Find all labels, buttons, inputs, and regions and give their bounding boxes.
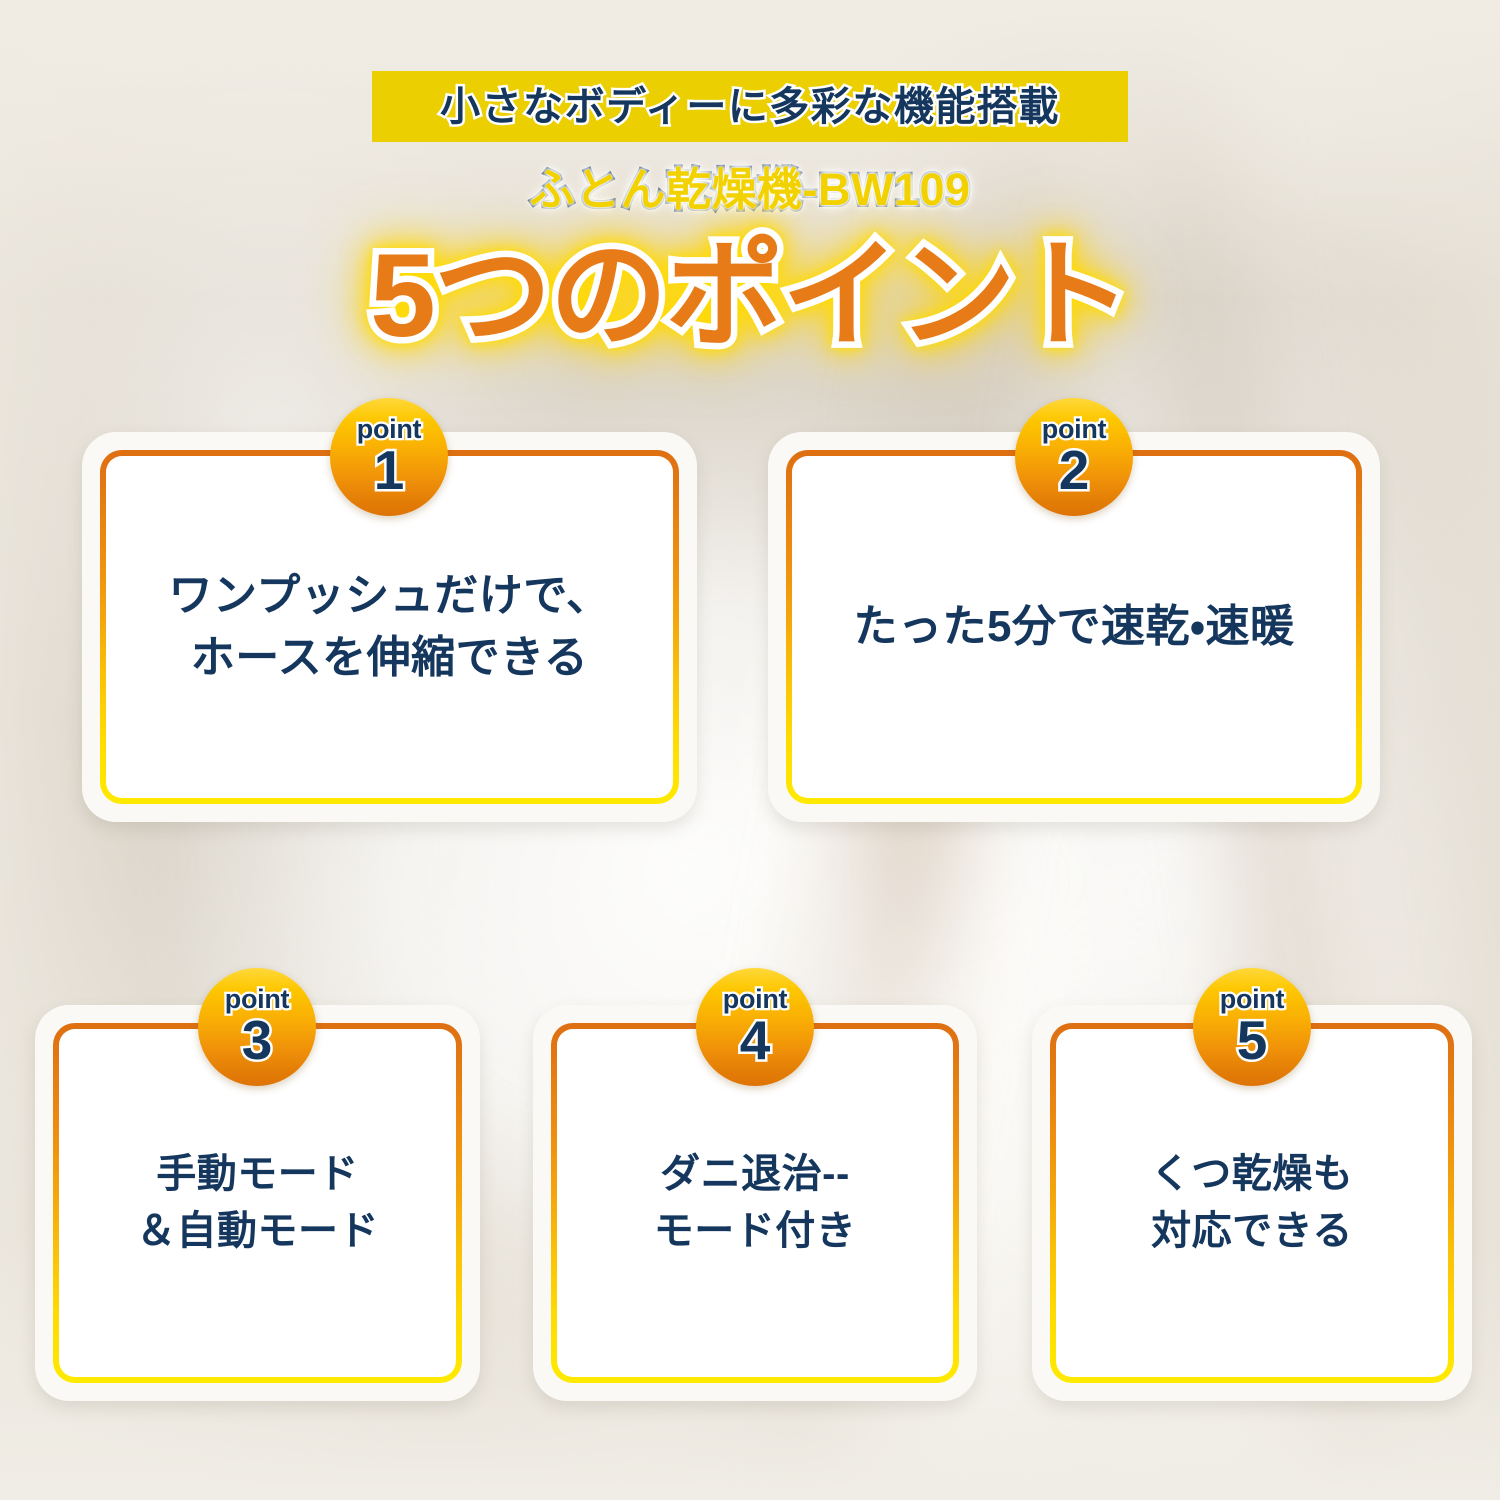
point-badge-2-number: 2 xyxy=(1059,443,1090,498)
point-badge-4: point 4 xyxy=(696,968,814,1086)
tagline-text: 小さなボディーに多彩な機能搭載 xyxy=(440,87,1060,127)
point-card-5-text: くつ乾燥も 対応できる xyxy=(1151,1146,1354,1260)
point-badge-2: point 2 xyxy=(1015,398,1133,516)
point-card-3-text: 手動モード ＆自動モード xyxy=(136,1146,379,1260)
point-badge-3-number: 3 xyxy=(242,1013,273,1068)
point-card-2-text: たった5分で速乾・速暖 xyxy=(854,596,1295,658)
tagline-banner: 小さなボディーに多彩な機能搭載 xyxy=(372,71,1128,142)
page-title: 5つのポイント xyxy=(0,236,1500,356)
point-badge-5: point 5 xyxy=(1193,968,1311,1086)
point-badge-5-number: 5 xyxy=(1237,1013,1268,1068)
product-name: ふとん乾燥機-BW109 xyxy=(0,167,1500,212)
point-card-1-text: ワンプッシュだけで、 ホースを伸縮できる xyxy=(169,565,611,690)
point-badge-1-number: 1 xyxy=(374,443,405,498)
point-card-4-text: ダニ退治-- モード付き xyxy=(654,1146,857,1260)
point-badge-3: point 3 xyxy=(198,968,316,1086)
point-badge-4-number: 4 xyxy=(740,1013,771,1068)
promo-poster: 小さなボディーに多彩な機能搭載 ふとん乾燥機-BW109 5つのポイント ワンプ… xyxy=(0,0,1500,1500)
point-badge-1: point 1 xyxy=(330,398,448,516)
